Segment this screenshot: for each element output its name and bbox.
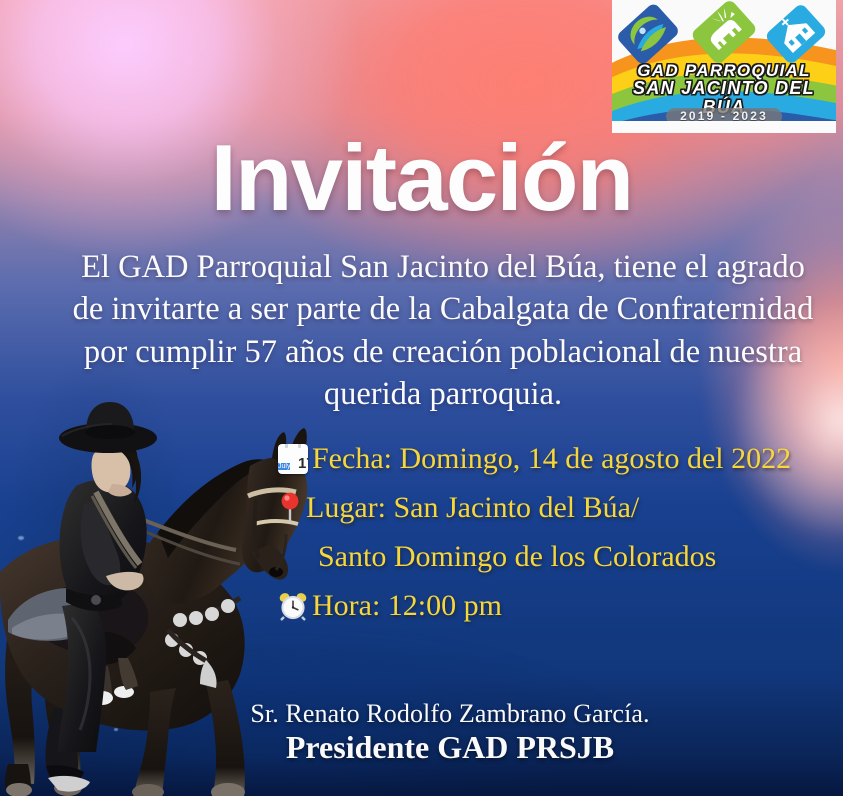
page-title: Invitación	[0, 131, 843, 225]
alarm-clock-icon	[278, 591, 308, 621]
invitation-body-text: El GAD Parroquial San Jacinto del Búa, t…	[62, 246, 824, 415]
calendar-day-label: 17	[298, 455, 308, 472]
detail-text-hora: Hora: 12:00 pm	[312, 591, 502, 621]
detail-text-lugar-cont: Santo Domingo de los Colorados	[318, 542, 716, 572]
map-pin-icon	[278, 492, 302, 524]
gad-parroquial-logo: GAD PARROQUIAL SAN JACINTO DEL BÚA 2019 …	[612, 0, 836, 133]
event-details-list: July 17 Fecha: Domingo, 14 de agosto del…	[278, 434, 843, 630]
detail-row-lugar: Lugar: San Jacinto del Búa/	[278, 483, 843, 532]
invitation-poster: GAD PARROQUIAL SAN JACINTO DEL BÚA 2019 …	[0, 0, 843, 796]
president-name: Sr. Renato Rodolfo Zambrano García.	[120, 699, 780, 729]
president-role: Presidente GAD PRSJB	[120, 729, 780, 767]
calendar-ring	[298, 444, 301, 448]
signature-block: Sr. Renato Rodolfo Zambrano García. Pres…	[120, 699, 780, 767]
detail-row-lugar-cont: Santo Domingo de los Colorados	[278, 532, 843, 581]
calendar-ring	[285, 444, 288, 448]
calendar-icon: July 17	[278, 444, 308, 474]
logo-line1: GAD PARROQUIAL	[612, 62, 836, 79]
detail-text-fecha: Fecha: Domingo, 14 de agosto del 2022	[312, 444, 791, 474]
detail-row-fecha: July 17 Fecha: Domingo, 14 de agosto del…	[278, 434, 843, 483]
detail-row-hora: Hora: 12:00 pm	[278, 581, 843, 630]
detail-text-lugar: Lugar: San Jacinto del Búa/	[306, 493, 639, 523]
calendar-month-label: July	[278, 463, 290, 470]
